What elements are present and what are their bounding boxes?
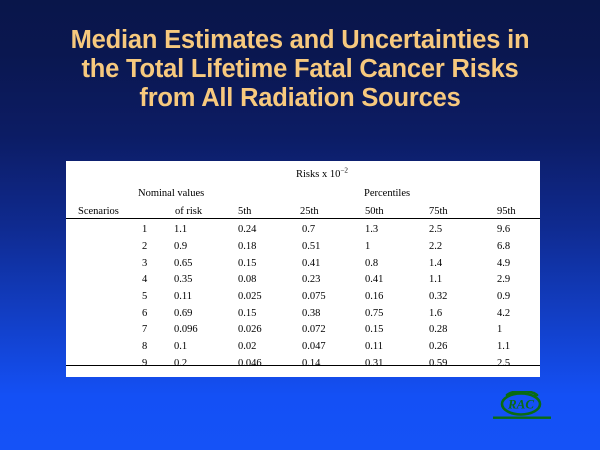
svg-text:RAC: RAC (507, 397, 534, 412)
cell-p5: 0.046 (232, 353, 294, 370)
cell-p95: 4.2 (487, 302, 540, 319)
cell-p5: 0.02 (232, 336, 294, 353)
cell-scenario: 5 (66, 286, 152, 303)
cell-p75: 2.5 (421, 219, 487, 236)
table-units-row: Risks x 10−2 (66, 161, 540, 181)
cell-p5: 0.026 (232, 319, 294, 336)
cell-p50: 1 (357, 236, 421, 253)
cell-scenario: 4 (66, 269, 152, 286)
column-header-scenarios: Scenarios (66, 200, 152, 219)
cell-nominal: 0.096 (152, 319, 232, 336)
cell-p25: 0.41 (294, 252, 357, 269)
cell-scenario: 2 (66, 236, 152, 253)
cell-p50: 0.41 (357, 269, 421, 286)
group-header-nominal: Nominal values (66, 181, 232, 200)
table-row: 2 0.9 0.18 0.51 1 2.2 6.8 (66, 236, 540, 253)
table-row: 3 0.65 0.15 0.41 0.8 1.4 4.9 (66, 252, 540, 269)
table-row: 1 1.1 0.24 0.7 1.3 2.5 9.6 (66, 219, 540, 236)
slide-title: Median Estimates and Uncertainties in th… (0, 26, 600, 113)
cell-p95: 2.5 (487, 353, 540, 370)
cell-p95: 1 (487, 319, 540, 336)
cell-scenario: 6 (66, 302, 152, 319)
cell-scenario: 8 (66, 336, 152, 353)
table-row: 6 0.69 0.15 0.38 0.75 1.6 4.2 (66, 302, 540, 319)
cell-p95: 2.9 (487, 269, 540, 286)
group-header-percentiles: Percentiles (232, 181, 540, 200)
cell-p25: 0.047 (294, 336, 357, 353)
cell-p25: 0.38 (294, 302, 357, 319)
cell-p95: 6.8 (487, 236, 540, 253)
cell-p75: 1.4 (421, 252, 487, 269)
cell-p25: 0.072 (294, 319, 357, 336)
cell-p5: 0.15 (232, 302, 294, 319)
cell-nominal: 0.69 (152, 302, 232, 319)
cell-p5: 0.24 (232, 219, 294, 236)
slide-title-line-3: from All Radiation Sources (0, 84, 600, 113)
table-header-row: Scenarios of risk 5th 25th 50th 75th 95t… (66, 200, 540, 219)
cell-nominal: 1.1 (152, 219, 232, 236)
cell-p50: 0.15 (357, 319, 421, 336)
cell-p95: 9.6 (487, 219, 540, 236)
table-row: 4 0.35 0.08 0.23 0.41 1.1 2.9 (66, 269, 540, 286)
cell-nominal: 0.2 (152, 353, 232, 370)
column-header-nominal: of risk (152, 200, 232, 219)
cell-scenario: 9 (66, 353, 152, 370)
table-units-label: Risks x 10−2 (66, 161, 540, 181)
cell-p25: 0.51 (294, 236, 357, 253)
cell-p75: 0.32 (421, 286, 487, 303)
cell-nominal: 0.65 (152, 252, 232, 269)
column-header-p25: 25th (294, 200, 357, 219)
cell-p25: 0.23 (294, 269, 357, 286)
cell-nominal: 0.1 (152, 336, 232, 353)
cell-p50: 1.3 (357, 219, 421, 236)
table-row: 9 0.2 0.046 0.14 0.31 0.59 2.5 (66, 353, 540, 370)
units-text: Risks x 10 (296, 169, 340, 180)
column-header-p50: 50th (357, 200, 421, 219)
risk-table-panel: Risks x 10−2 Nominal values Percentiles … (66, 161, 540, 377)
cell-p25: 0.075 (294, 286, 357, 303)
rac-logo-icon: RAC (485, 391, 555, 427)
column-header-p75: 75th (421, 200, 487, 219)
cell-p5: 0.025 (232, 286, 294, 303)
table-bottom-rule (66, 365, 540, 366)
cell-scenario: 1 (66, 219, 152, 236)
cell-p95: 1.1 (487, 336, 540, 353)
cell-scenario: 7 (66, 319, 152, 336)
table-row: 5 0.11 0.025 0.075 0.16 0.32 0.9 (66, 286, 540, 303)
cell-p25: 0.14 (294, 353, 357, 370)
cell-p75: 0.26 (421, 336, 487, 353)
cell-p5: 0.15 (232, 252, 294, 269)
column-header-p95: 95th (487, 200, 540, 219)
cell-p25: 0.7 (294, 219, 357, 236)
units-exponent: −2 (340, 167, 348, 175)
cell-p75: 1.6 (421, 302, 487, 319)
cell-p75: 1.1 (421, 269, 487, 286)
cell-p75: 0.28 (421, 319, 487, 336)
rac-logo: RAC (485, 391, 555, 427)
slide-title-line-2: the Total Lifetime Fatal Cancer Risks (0, 55, 600, 84)
slide-canvas: Median Estimates and Uncertainties in th… (0, 0, 600, 450)
slide-title-line-1: Median Estimates and Uncertainties in (0, 26, 600, 55)
cell-nominal: 0.9 (152, 236, 232, 253)
cell-p95: 4.9 (487, 252, 540, 269)
cell-p50: 0.16 (357, 286, 421, 303)
cell-p5: 0.08 (232, 269, 294, 286)
table-group-row: Nominal values Percentiles (66, 181, 540, 200)
cell-p50: 0.11 (357, 336, 421, 353)
cell-p75: 2.2 (421, 236, 487, 253)
risk-table: Risks x 10−2 Nominal values Percentiles … (66, 161, 540, 369)
cell-p75: 0.59 (421, 353, 487, 370)
cell-scenario: 3 (66, 252, 152, 269)
cell-p50: 0.75 (357, 302, 421, 319)
cell-p5: 0.18 (232, 236, 294, 253)
cell-p95: 0.9 (487, 286, 540, 303)
cell-p50: 0.8 (357, 252, 421, 269)
cell-nominal: 0.35 (152, 269, 232, 286)
cell-nominal: 0.11 (152, 286, 232, 303)
column-header-p5: 5th (232, 200, 294, 219)
table-row: 8 0.1 0.02 0.047 0.11 0.26 1.1 (66, 336, 540, 353)
cell-p50: 0.31 (357, 353, 421, 370)
table-row: 7 0.096 0.026 0.072 0.15 0.28 1 (66, 319, 540, 336)
